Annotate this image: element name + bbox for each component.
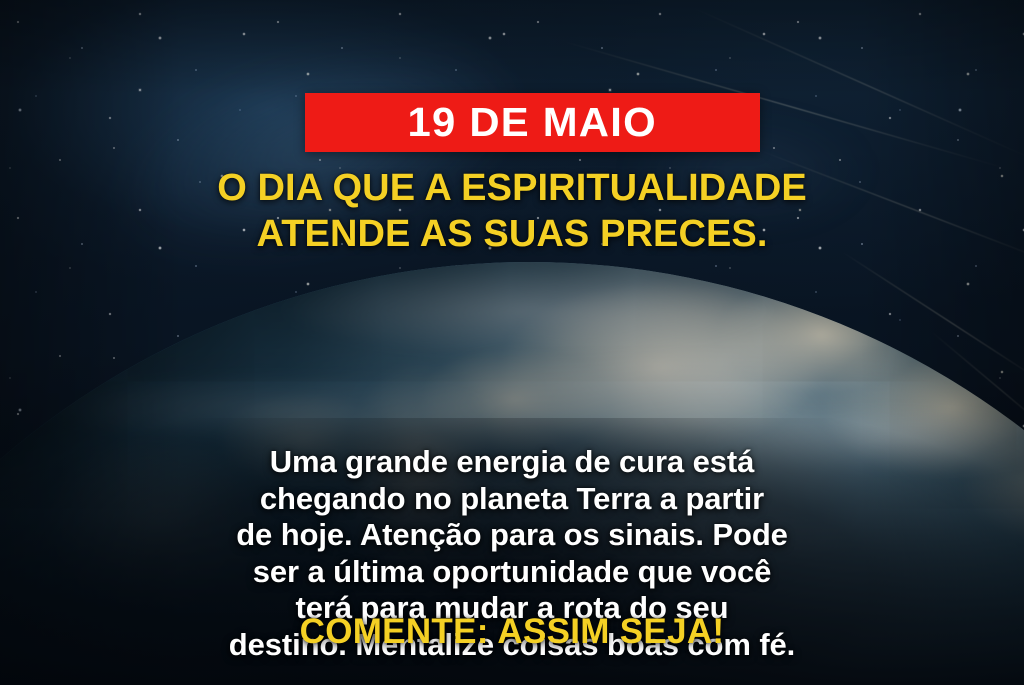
date-banner: 19 DE MAIO: [305, 93, 760, 152]
body-line-4: ser a última oportunidade que você: [0, 554, 1024, 591]
body-line-2: chegando no planeta Terra a partir: [0, 481, 1024, 518]
poster-canvas: 19 DE MAIO O DIA QUE A ESPIRITUALIDADE A…: [0, 0, 1024, 685]
headline-line-1: O DIA QUE A ESPIRITUALIDADE: [0, 166, 1024, 212]
call-to-action-text: COMENTE: ASSIM SEJA!: [0, 613, 1024, 652]
date-banner-label: 19 DE MAIO: [408, 102, 657, 143]
headline-line-2: ATENDE AS SUAS PRECES.: [0, 212, 1024, 258]
body-line-3: de hoje. Atenção para os sinais. Pode: [0, 517, 1024, 554]
body-line-1: Uma grande energia de cura está: [0, 444, 1024, 481]
headline: O DIA QUE A ESPIRITUALIDADE ATENDE AS SU…: [0, 166, 1024, 257]
poster-content: 19 DE MAIO O DIA QUE A ESPIRITUALIDADE A…: [0, 0, 1024, 685]
